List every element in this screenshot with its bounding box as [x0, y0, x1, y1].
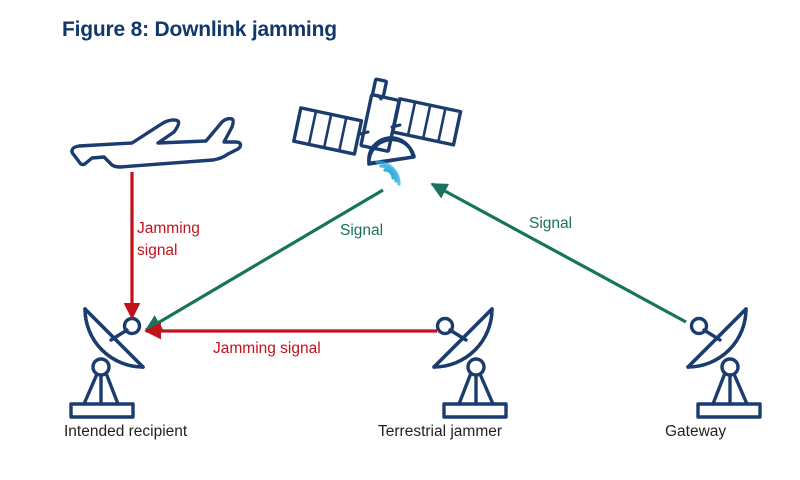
gateway-dish-icon: [688, 309, 760, 417]
edge-label-jamming-aircraft: Jamming signal: [137, 218, 200, 263]
diagram-canvas: [0, 0, 800, 480]
edge-label-signal-satellite-recipient: Signal: [340, 222, 383, 240]
caption-gateway: Gateway: [665, 423, 726, 441]
caption-intended-recipient: Intended recipient: [64, 423, 187, 441]
edge-label-signal-gateway-satellite: Signal: [529, 215, 572, 233]
edge-label-jamming-aircraft-line2: signal: [137, 240, 200, 262]
satellite-icon: [294, 79, 461, 164]
caption-terrestrial-jammer: Terrestrial jammer: [378, 423, 502, 441]
edge-label-jamming-aircraft-line1: Jamming: [137, 218, 200, 240]
satellite-signal-waves-icon: [377, 162, 399, 184]
aircraft-icon: [72, 119, 241, 167]
edge-signal-gateway-satellite: [432, 184, 686, 322]
terrestrial-jammer-dish-icon: [434, 309, 506, 417]
edge-label-jamming-terrestrial: Jamming signal: [213, 340, 321, 358]
figure-container: Figure 8: Downlink jamming: [0, 0, 800, 480]
intended-recipient-dish-icon: [71, 309, 143, 417]
